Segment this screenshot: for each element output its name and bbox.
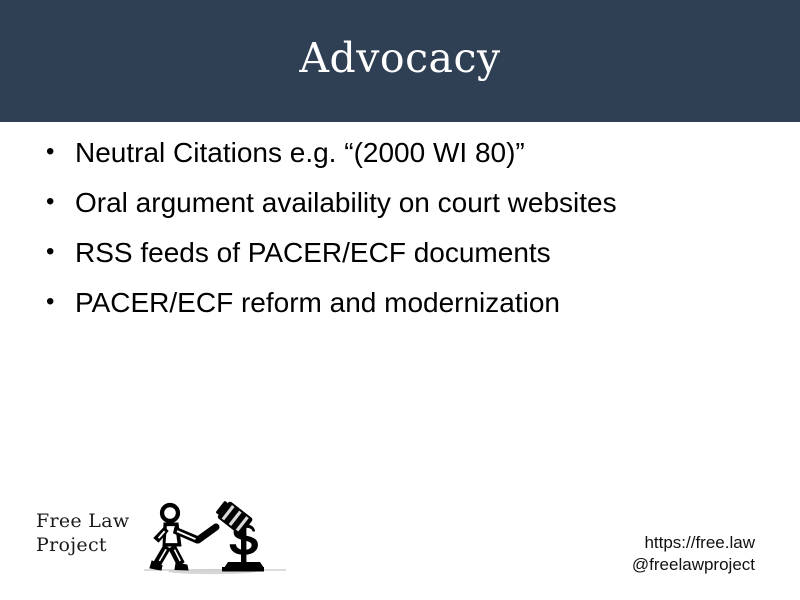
list-item-label: RSS feeds of PACER/ECF documents (75, 237, 551, 268)
list-item: • RSS feeds of PACER/ECF documents (44, 238, 756, 267)
list-item: • PACER/ECF reform and modernization (44, 288, 756, 317)
bullet-dot-icon: • (46, 238, 66, 267)
social-handle[interactable]: @freelawproject (632, 554, 755, 576)
logo-wordmark-line-2: Project (36, 534, 129, 558)
presentation-slide: Advocacy • Neutral Citations e.g. “(2000… (0, 0, 800, 600)
bullet-dot-icon: • (46, 188, 66, 217)
page-title: Advocacy (0, 0, 800, 122)
website-url[interactable]: https://free.law (632, 532, 755, 554)
logo-wordmark: Free Law Project (36, 510, 129, 558)
list-item-label: Oral argument availability on court webs… (75, 187, 617, 218)
list-item-label: PACER/ECF reform and modernization (75, 287, 560, 318)
logo-wordmark-line-1: Free Law (36, 510, 129, 534)
list-item: • Oral argument availability on court we… (44, 188, 756, 217)
free-law-project-logo: Free Law Project (32, 500, 288, 582)
list-item: • Neutral Citations e.g. “(2000 WI 80)” (44, 138, 756, 167)
bullet-list: • Neutral Citations e.g. “(2000 WI 80)” … (44, 138, 756, 338)
bullet-dot-icon: • (46, 138, 66, 167)
list-item-label: Neutral Citations e.g. “(2000 WI 80)” (75, 137, 525, 168)
gavel-figure-dollar-sign-icon (142, 500, 288, 582)
bullet-dot-icon: • (46, 288, 66, 317)
footer-links: https://free.law @freelawproject (632, 532, 755, 577)
